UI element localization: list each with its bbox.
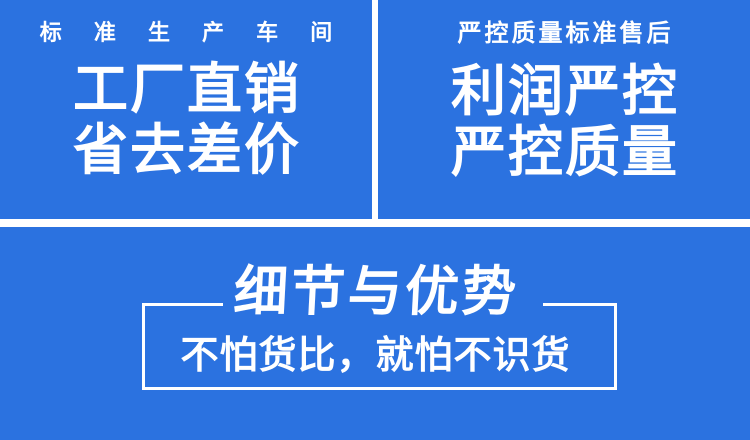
- panel-quality-control-headline-line2: 严控质量: [449, 123, 679, 182]
- panel-quality-control-content: 严控质量标准售后 利润严控 严控质量: [378, 0, 750, 219]
- panel-details-advantages: 细节与优势 不怕货比，就怕不识货: [0, 227, 750, 440]
- banner-subtitle: 不怕货比，就怕不识货: [0, 337, 750, 375]
- top-panel-row: 标 准 生 产 车 间 工厂直销 省去差价 严控质量标准售后 利润严控 严控质量: [0, 0, 750, 219]
- panel-factory-direct-headline-line1: 工厂直销: [71, 60, 301, 119]
- panel-factory-direct-headline-line2: 省去差价: [71, 121, 301, 180]
- promo-banner-graphic: 标 准 生 产 车 间 工厂直销 省去差价 严控质量标准售后 利润严控 严控质量…: [0, 0, 750, 440]
- banner-title: 细节与优势: [0, 265, 750, 319]
- panel-factory-direct-content: 标 准 生 产 车 间 工厂直销 省去差价: [0, 0, 372, 219]
- panel-quality-control-headline-line1: 利润严控: [449, 62, 679, 121]
- panel-factory-direct: 标 准 生 产 车 间 工厂直销 省去差价: [0, 0, 372, 219]
- panel-factory-direct-eyebrow: 标 准 生 产 车 间: [27, 22, 346, 44]
- panel-quality-control: 严控质量标准售后 利润严控 严控质量: [378, 0, 750, 219]
- panel-quality-control-eyebrow: 严控质量标准售后: [455, 22, 674, 46]
